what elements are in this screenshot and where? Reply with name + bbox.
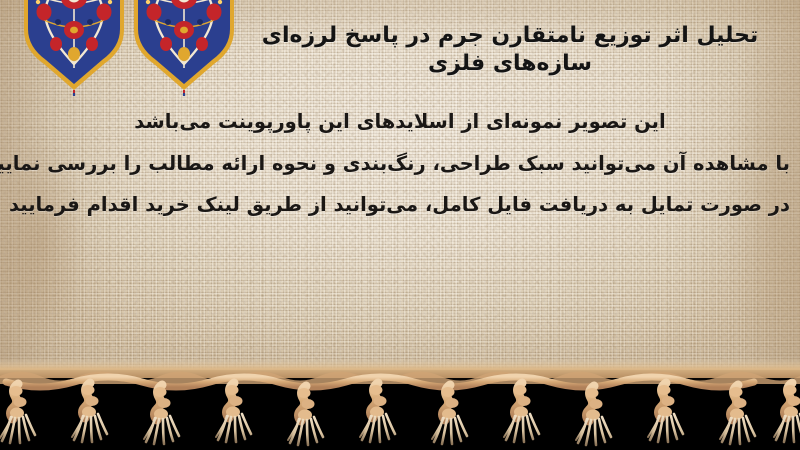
body-line: این تصویر نمونه‌ای از اسلایدهای این پاور… (10, 112, 790, 132)
slide-canvas: تحلیل اثر توزیع نامتقارن جرم در پاسخ لرز… (0, 0, 800, 450)
persian-medallion-icon (18, 0, 130, 96)
carpet-fringe (0, 358, 800, 450)
body-line: با مشاهده آن می‌توانید سبک طراحی، رنگ‌بن… (10, 154, 790, 174)
carpet-fringe-tassels (0, 358, 800, 450)
slide-title: تحلیل اثر توزیع نامتقارن جرم در پاسخ لرز… (236, 22, 784, 77)
body-line: در صورت تمایل به دریافت فایل کامل، می‌تو… (10, 195, 790, 215)
slide-body: این تصویر نمونه‌ای از اسلایدهای این پاور… (10, 112, 790, 215)
persian-medallion-icon (128, 0, 240, 96)
